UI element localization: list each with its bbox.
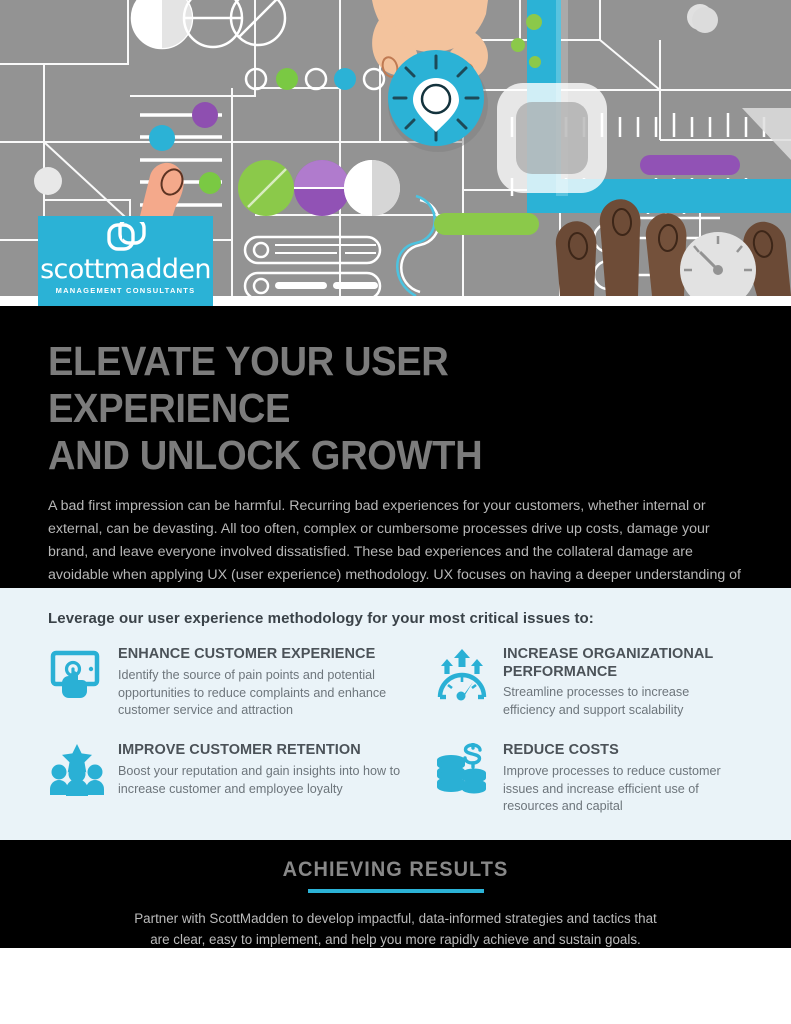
flyer-page: scottmadden MANAGEMENT CONSULTANTS ELEVA…: [0, 0, 791, 1024]
page-title: ELEVATE YOUR USER EXPERIENCE AND UNLOCK …: [48, 338, 694, 479]
coin-stacks-dollar-icon: [433, 741, 491, 799]
slider-knob-purple: [192, 102, 218, 128]
benefit-item-enhance-customer-experience: ENHANCE CUSTOMER EXPERIENCE Identify the…: [48, 645, 433, 741]
results-body: Partner with ScottMadden to develop impa…: [66, 909, 726, 951]
logo-wordmark: scottmadden: [38, 256, 213, 283]
pie-circle-green: [238, 160, 294, 216]
benefit-text: REDUCE COSTS Improve processes to reduce…: [503, 741, 743, 816]
benefit-item-improve-customer-retention: IMPROVE CUSTOMER RETENTION Boost your re…: [48, 741, 433, 837]
pie-circle-purple: [294, 160, 350, 216]
speedometer-up-arrows-icon: [433, 645, 491, 703]
slider-knob-green: [199, 172, 221, 194]
benefit-text: INCREASE ORGANIZATIONAL PERFORMANCE Stre…: [503, 645, 743, 720]
people-star-icon: [48, 741, 106, 799]
benefit-heading: ENHANCE CUSTOMER EXPERIENCE: [118, 646, 433, 664]
node-dot-upper-right: [692, 7, 718, 33]
node-circle-left: [34, 167, 62, 195]
benefits-section: Leverage our user experience methodology…: [0, 588, 791, 840]
benefits-heading: Leverage our user experience methodology…: [48, 610, 743, 627]
benefit-heading: REDUCE COSTS: [503, 742, 743, 760]
scottmadden-linked-squares-mark: [106, 222, 146, 256]
benefit-body: Improve processes to reduce customer iss…: [503, 763, 743, 817]
benefit-text: IMPROVE CUSTOMER RETENTION Boost your re…: [118, 741, 433, 798]
pie-circle-half-white: [344, 160, 400, 216]
benefit-text: ENHANCE CUSTOMER EXPERIENCE Identify the…: [118, 645, 433, 720]
results-underline-rule: [308, 889, 484, 893]
logo-tagline: MANAGEMENT CONSULTANTS: [38, 286, 213, 295]
tablet-touch-icon: [48, 645, 106, 703]
benefits-grid: ENHANCE CUSTOMER EXPERIENCE Identify the…: [48, 645, 743, 837]
headline-section: ELEVATE YOUR USER EXPERIENCE AND UNLOCK …: [0, 306, 791, 588]
slider-knob-cyan: [149, 125, 175, 151]
scottmadden-logo[interactable]: scottmadden MANAGEMENT CONSULTANTS: [38, 216, 213, 306]
benefit-heading: IMPROVE CUSTOMER RETENTION: [118, 742, 433, 760]
benefit-item-increase-organizational-performance: INCREASE ORGANIZATIONAL PERFORMANCE Stre…: [433, 645, 743, 741]
achieving-results-section: ACHIEVING RESULTS Partner with ScottMadd…: [0, 840, 791, 948]
purple-pill-slider: [640, 155, 740, 175]
benefit-item-reduce-costs: REDUCE COSTS Improve processes to reduce…: [433, 741, 743, 837]
benefit-heading: INCREASE ORGANIZATIONAL PERFORMANCE: [503, 646, 743, 681]
pie-circle-half-1: [132, 0, 192, 48]
green-pill-slider: [434, 213, 539, 235]
benefit-body: Identify the source of pain points and p…: [118, 667, 433, 721]
results-heading: ACHIEVING RESULTS: [20, 858, 771, 882]
footer-whitespace: [0, 948, 791, 1024]
white-rounded-frame: [497, 83, 607, 193]
benefit-body: Boost your reputation and gain insights …: [118, 763, 433, 799]
benefit-body: Streamline processes to increase efficie…: [503, 684, 743, 720]
